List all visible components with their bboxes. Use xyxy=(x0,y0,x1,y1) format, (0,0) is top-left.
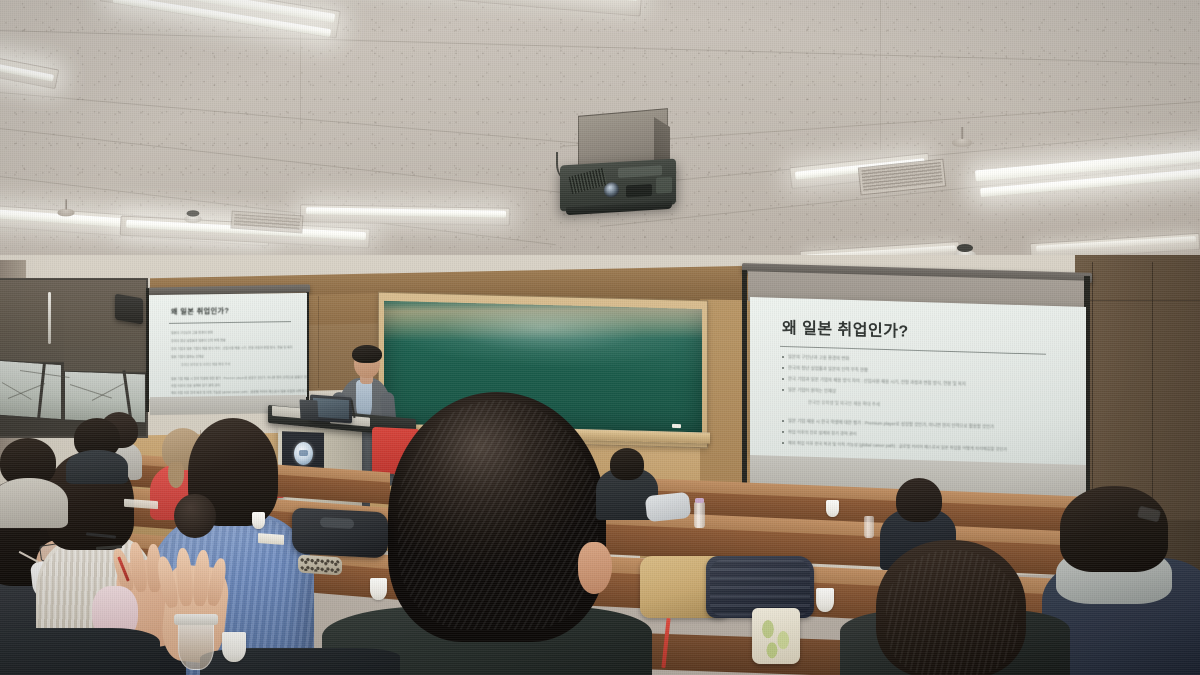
bullet-dot-icon xyxy=(782,431,784,433)
smoke-detector-icon xyxy=(184,215,202,223)
hair-strand-texture xyxy=(886,550,1018,675)
main-slide-title: 왜 일본 취업인가? xyxy=(782,314,909,342)
window-blind[interactable] xyxy=(0,280,64,362)
student-jacket xyxy=(0,628,160,675)
projector-vent xyxy=(569,167,608,194)
student-sleeve xyxy=(645,492,691,522)
wood-seam xyxy=(1075,300,1200,301)
main-sub-bullet-text: 한국인 유학생 및 외국인 채용 확대 추세 xyxy=(808,400,880,408)
cup-lid[interactable] xyxy=(174,614,218,625)
speaker-icon xyxy=(115,294,143,325)
paper-sheet[interactable] xyxy=(258,533,284,545)
side-note-text: 해외 취업 이후 한국 복귀 및 이직 가능성 (global career p… xyxy=(171,389,307,395)
side-screen-surface: 왜 일본 취업인가? 일본의 구인난과 고용 환경의 변화 한국의 청년 실업률… xyxy=(149,293,307,399)
main-bullet-text: 일본의 구인난과 고용 환경의 변화 xyxy=(788,354,849,362)
student-hair xyxy=(896,478,942,522)
projector-side-panel xyxy=(656,177,672,194)
side-slide-title: 왜 일본 취업인가? xyxy=(171,306,229,317)
bullet-dot-icon xyxy=(782,389,784,391)
presenter-hair xyxy=(352,345,382,363)
window-blind[interactable] xyxy=(64,280,146,372)
side-bullet-text: 한국 기업과 일본 기업의 채용 방식 차이 : 신입사원 채용 시기, 전형 … xyxy=(171,345,293,351)
sprinkler-icon xyxy=(58,209,75,217)
main-bullet-text: 한국의 청년 실업률과 일본의 인력 부족 현황 xyxy=(788,365,868,373)
bottle-cap[interactable] xyxy=(695,498,704,503)
side-bullet-text: 일본의 구인난과 고용 환경의 변화 xyxy=(171,330,213,335)
paper-cup[interactable] xyxy=(222,632,246,662)
student-hair xyxy=(1060,486,1168,572)
side-bullet-text: 한국의 청년 실업률과 일본의 인력 부족 현황 xyxy=(171,338,226,343)
main-slide-rule xyxy=(780,346,1046,355)
main-screen-surface: 왜 일본 취업인가? 일본의 구인난과 고용 환경의 변화 한국의 청년 실업률… xyxy=(750,297,1086,467)
ceiling-grid-line xyxy=(880,0,881,150)
paper-cup[interactable] xyxy=(816,588,834,612)
paper-cup[interactable] xyxy=(252,512,265,529)
water-bottle[interactable] xyxy=(694,502,705,528)
hair-strand-texture xyxy=(398,400,598,630)
paper-cup[interactable] xyxy=(370,578,387,600)
side-note-text: 취업 이후의 진로 설계와 장기 경력 관리 xyxy=(171,383,220,388)
bullet-dot-icon xyxy=(782,367,784,369)
chalk-eraser[interactable] xyxy=(672,424,681,428)
projector-panel xyxy=(626,184,652,198)
scarf-pattern xyxy=(300,557,340,574)
window-pane xyxy=(0,360,62,420)
pouch-pattern xyxy=(756,616,796,660)
side-note-text: 일본 기업 채용 시 한국 학생에 대한 평가 : Premium player… xyxy=(171,375,307,381)
projector-top-detail xyxy=(618,165,662,178)
student-hair-bun xyxy=(174,494,216,538)
main-note-text: 일본 기업 채용 시 한국 학생에 대한 평가 : Premium player… xyxy=(788,418,994,430)
student-ponytail xyxy=(168,462,184,488)
bullet-dot-icon xyxy=(782,420,784,422)
water-bottle[interactable] xyxy=(864,516,874,538)
main-bullet-text: 한국 기업과 일본 기업의 채용 방식 차이 : 신입사원 채용 시기, 전형 … xyxy=(788,376,966,387)
bullet-dot-icon xyxy=(782,442,784,444)
wood-seam xyxy=(318,296,319,388)
blind-pull-rod[interactable] xyxy=(48,292,51,344)
bullet-dot-icon xyxy=(782,378,784,380)
side-bullet-text: 일본 기업이 원하는 인재상 xyxy=(171,354,204,358)
black-backpack[interactable] xyxy=(292,507,388,558)
sprinkler-icon xyxy=(952,138,972,147)
side-sub-bullet-text: 한국인 유학생 및 외국인 채용 확대 추세 xyxy=(181,362,230,367)
main-note-text: 해외 취업 이후 한국 복귀 및 이직 가능성 (global career p… xyxy=(788,440,1007,453)
paper-cup[interactable] xyxy=(826,500,839,517)
window-pane xyxy=(64,371,146,424)
student-hair xyxy=(610,448,644,480)
university-crest-icon xyxy=(294,442,313,465)
bullet-dot-icon xyxy=(782,356,784,358)
main-note-text: 취업 이후의 진로 설계와 장기 경력 관리 xyxy=(788,429,857,437)
main-screen-edge-left xyxy=(742,270,747,496)
projector-lens xyxy=(604,182,619,198)
podium-laptop[interactable] xyxy=(299,399,318,420)
student-torso xyxy=(0,478,68,528)
student-torso xyxy=(66,450,128,484)
monitor-screen xyxy=(313,398,349,420)
side-slide-rule xyxy=(169,321,291,324)
iced-drink-cup[interactable] xyxy=(178,618,214,670)
backpack-strap xyxy=(320,517,354,529)
main-bullet-text: 일본 기업이 원하는 인재상 xyxy=(788,387,836,394)
lecture-hall-photo: 왜 일본 취업인가? 일본의 구인난과 고용 환경의 변화 한국의 청년 실업률… xyxy=(0,0,1200,675)
